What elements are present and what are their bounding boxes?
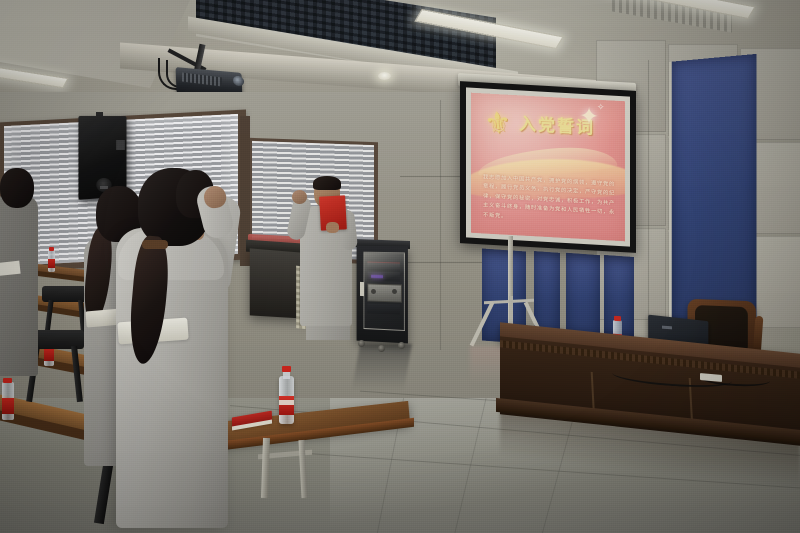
rack-door-handle[interactable]: [360, 282, 364, 296]
person-head: [0, 168, 34, 208]
man-hand: [326, 222, 339, 233]
wall-seam: [648, 60, 649, 330]
party-emblem-icon: ⚜: [479, 105, 517, 143]
bottle-label: [2, 398, 14, 414]
man-raised-fist: [292, 190, 307, 204]
blue-wall-panel: [669, 54, 757, 330]
bottle-label: [279, 396, 294, 415]
bottle-cap: [3, 378, 12, 383]
blue-wall-panel: [566, 253, 600, 339]
bottle-cap: [49, 247, 54, 251]
recessed-downlight: [378, 72, 391, 80]
bottle-cap: [282, 366, 291, 372]
hair-tie: [142, 240, 168, 249]
presentation-slide: ⚜ 入党誓词 ✦ ✧ 我志愿加入中国共产党，拥护党的纲领，遵守党的章程，履行党员…: [471, 93, 625, 242]
bottle-cap: [614, 316, 621, 321]
person-at-left: [0, 196, 38, 376]
man-hair: [313, 176, 341, 190]
rack-caster: [398, 342, 405, 349]
slide-body-text: 我志愿加入中国共产党，拥护党的纲领，遵守党的章程，履行党员义务，执行党的决定，严…: [483, 173, 615, 227]
sparkle-icon: ✧: [597, 102, 605, 113]
rack-glass-door[interactable]: [363, 252, 404, 331]
rack-caster: [378, 345, 385, 352]
rack-caster: [358, 340, 365, 347]
bottle-label: [48, 259, 55, 268]
bottle-label-stripe: [279, 400, 294, 405]
wall-seam: [440, 100, 441, 350]
projection-screen: ⚜ 入党誓词 ✦ ✧ 我志愿加入中国共产党，拥护党的纲领，遵守党的章程，履行党员…: [466, 87, 630, 246]
meeting-room-photo: ⚜ 入党誓词 ✦ ✧ 我志愿加入中国共产党，拥护党的纲领，遵守党的章程，履行党员…: [0, 0, 800, 533]
speaker-port: [116, 140, 125, 150]
